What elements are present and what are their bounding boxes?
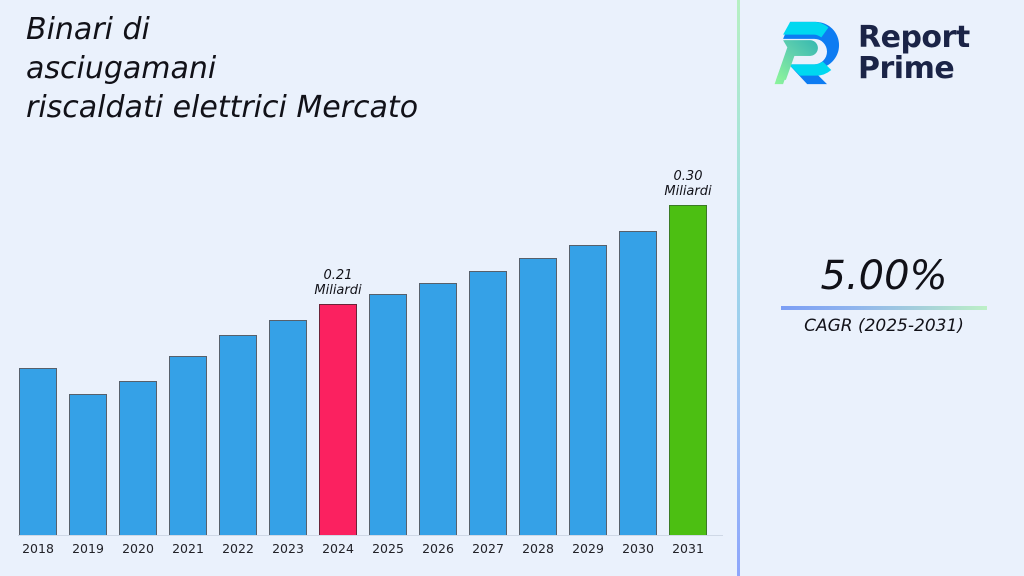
bar-chart: 2018201920202021202220232024202520262027… — [0, 0, 735, 576]
brand-name: Report Prime — [858, 22, 970, 84]
chart-infographic: Binari di asciugamani riscaldati elettri… — [0, 0, 1024, 576]
brand-logo: Report Prime — [774, 14, 1014, 92]
bar-rect-2029 — [569, 245, 607, 535]
report-prime-logo-icon — [774, 19, 846, 87]
bar-2024 — [319, 304, 357, 535]
bar-rect-2018 — [19, 368, 57, 535]
bar-rect-2022 — [219, 335, 257, 535]
x-tick-2024: 2024 — [319, 541, 357, 556]
x-tick-2030: 2030 — [619, 541, 657, 556]
bar-2023 — [269, 320, 307, 535]
cagr-value: 5.00% — [756, 252, 1012, 300]
x-tick-2027: 2027 — [469, 541, 507, 556]
bar-rect-2028 — [519, 258, 557, 535]
x-tick-2019: 2019 — [69, 541, 107, 556]
bar-2027 — [469, 271, 507, 535]
bar-rect-2025 — [369, 294, 407, 535]
bar-2028 — [519, 258, 557, 535]
bar-2022 — [219, 335, 257, 535]
bar-rect-2031 — [669, 205, 707, 535]
bar-rect-2020 — [119, 381, 157, 535]
bar-2026 — [419, 283, 457, 535]
value-label-2031: 0.30 Miliardi — [638, 169, 738, 199]
value-label-2024: 0.21 Miliardi — [288, 268, 388, 298]
cagr-block: 5.00% CAGR (2025-2031) — [756, 252, 1012, 337]
right-panel: Report Prime 5.00% CAGR (2025-2031) — [740, 0, 1024, 576]
bar-rect-2021 — [169, 356, 207, 535]
x-tick-2028: 2028 — [519, 541, 557, 556]
x-tick-2029: 2029 — [569, 541, 607, 556]
bar-2021 — [169, 356, 207, 535]
bar-rect-2026 — [419, 283, 457, 535]
bar-rect-2027 — [469, 271, 507, 535]
bar-2020 — [119, 381, 157, 535]
bar-2018 — [19, 368, 57, 535]
x-tick-2022: 2022 — [219, 541, 257, 556]
bar-2031 — [669, 205, 707, 535]
bar-rect-2030 — [619, 231, 657, 535]
bar-2029 — [569, 245, 607, 535]
x-tick-2026: 2026 — [419, 541, 457, 556]
x-tick-2020: 2020 — [119, 541, 157, 556]
x-tick-2021: 2021 — [169, 541, 207, 556]
bar-2025 — [369, 294, 407, 535]
bar-2019 — [69, 394, 107, 535]
bar-rect-2024 — [319, 304, 357, 535]
bar-rect-2023 — [269, 320, 307, 535]
cagr-divider-rule — [781, 306, 987, 310]
x-tick-2031: 2031 — [669, 541, 707, 556]
bar-rect-2019 — [69, 394, 107, 535]
x-tick-2018: 2018 — [19, 541, 57, 556]
x-tick-2025: 2025 — [369, 541, 407, 556]
x-tick-2023: 2023 — [269, 541, 307, 556]
cagr-caption: CAGR (2025-2031) — [756, 315, 1012, 337]
bar-2030 — [619, 231, 657, 535]
